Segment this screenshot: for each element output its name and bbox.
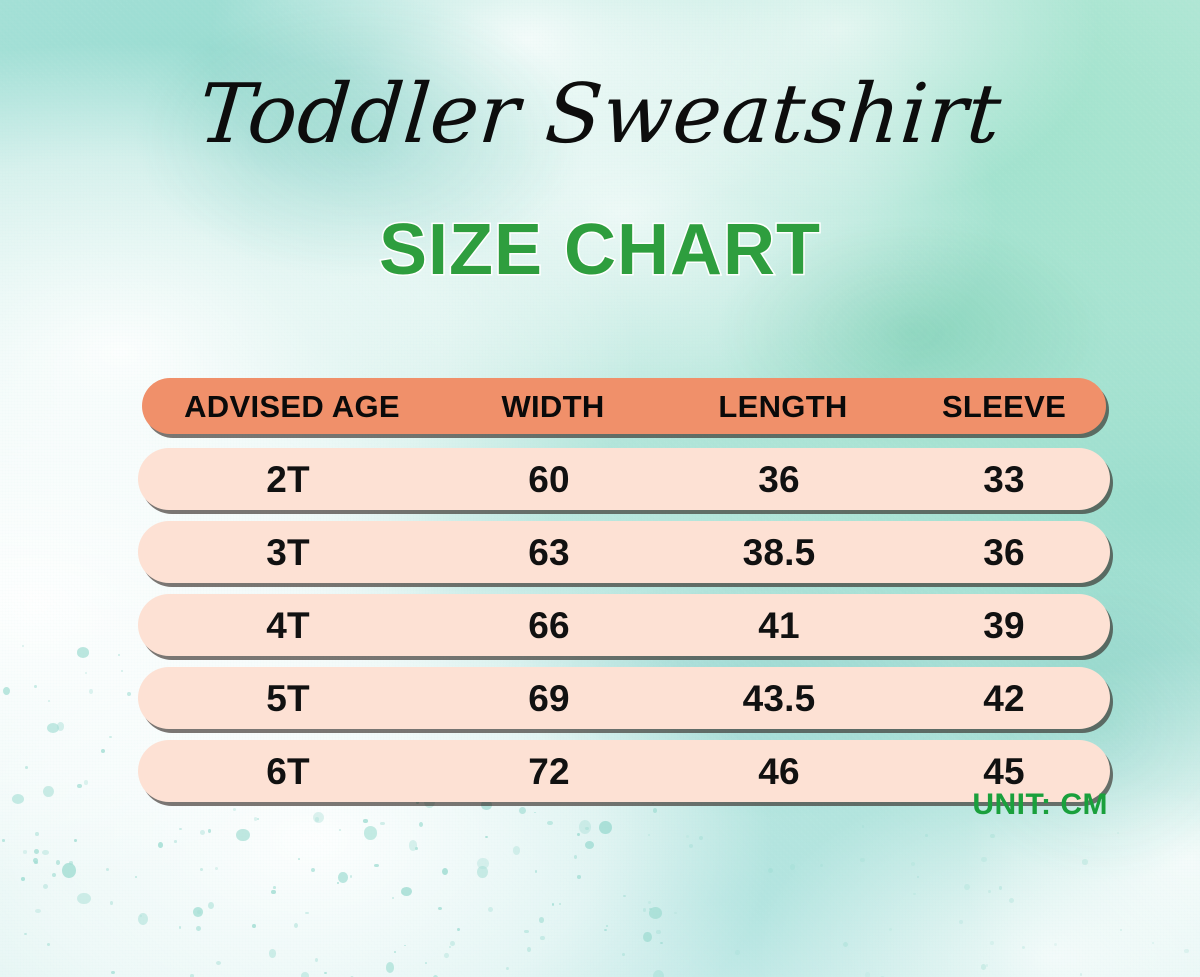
- cell-length: 43.5: [660, 680, 898, 717]
- cell-width: 63: [438, 534, 660, 571]
- page-title: Toddler Sweatshirt: [0, 72, 1200, 158]
- cell-sleeve: 39: [898, 607, 1110, 644]
- cell-width: 69: [438, 680, 660, 717]
- cell-length: 36: [660, 461, 898, 498]
- unit-label: UNIT: CM: [972, 788, 1108, 822]
- column-header-length: LENGTH: [664, 391, 902, 422]
- cell-length: 38.5: [660, 534, 898, 571]
- cell-sleeve: 42: [898, 680, 1110, 717]
- table-header-row: ADVISED AGE WIDTH LENGTH SLEEVE: [142, 378, 1106, 434]
- table-row: 5T 69 43.5 42: [138, 667, 1110, 729]
- column-header-width: WIDTH: [442, 391, 664, 422]
- cell-width: 72: [438, 753, 660, 790]
- table-row: 6T 72 46 45: [138, 740, 1110, 802]
- size-table: ADVISED AGE WIDTH LENGTH SLEEVE 2T 60 36…: [138, 378, 1110, 813]
- page-subtitle: SIZE CHART: [0, 214, 1200, 286]
- cell-width: 60: [438, 461, 660, 498]
- column-header-sleeve: SLEEVE: [902, 391, 1106, 422]
- cell-sleeve: 45: [898, 753, 1110, 790]
- cell-sleeve: 33: [898, 461, 1110, 498]
- column-header-advised-age: ADVISED AGE: [142, 391, 442, 422]
- table-row: 4T 66 41 39: [138, 594, 1110, 656]
- cell-length: 41: [660, 607, 898, 644]
- cell-advised-age: 2T: [138, 461, 438, 498]
- table-row: 3T 63 38.5 36: [138, 521, 1110, 583]
- size-chart-poster: Toddler Sweatshirt SIZE CHART ADVISED AG…: [0, 0, 1200, 977]
- cell-advised-age: 5T: [138, 680, 438, 717]
- cell-sleeve: 36: [898, 534, 1110, 571]
- cell-advised-age: 4T: [138, 607, 438, 644]
- cell-advised-age: 3T: [138, 534, 438, 571]
- table-row: 2T 60 36 33: [138, 448, 1110, 510]
- cell-advised-age: 6T: [138, 753, 438, 790]
- cell-width: 66: [438, 607, 660, 644]
- cell-length: 46: [660, 753, 898, 790]
